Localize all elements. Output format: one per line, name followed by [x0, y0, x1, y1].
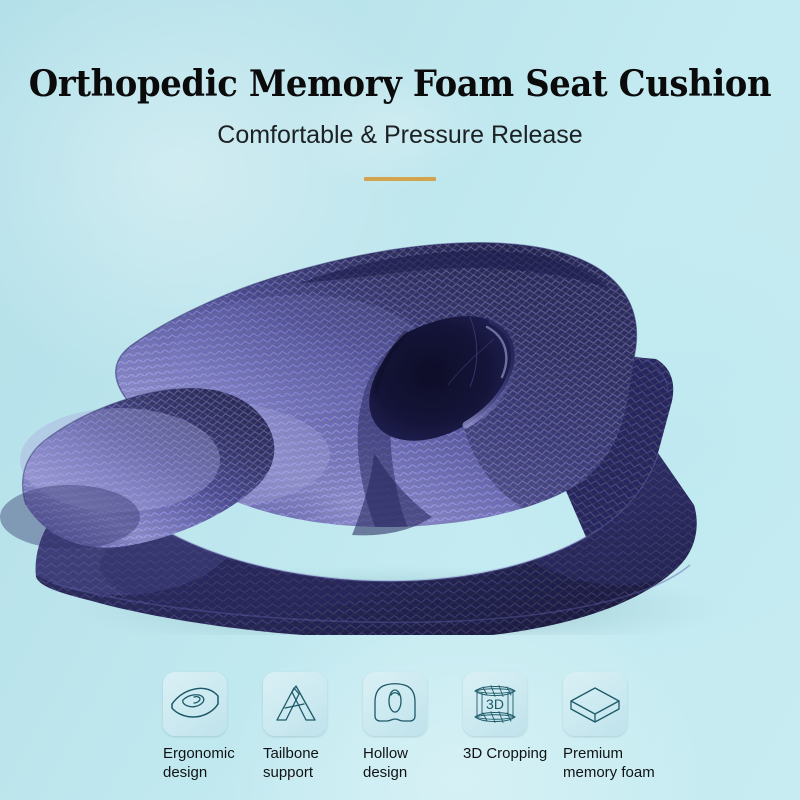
three-d-glyph-text: 3D [486, 696, 504, 712]
feature-premium-memory-foam[interactable]: Premium memory foam [563, 672, 663, 782]
header: Orthopedic Memory Foam Seat Cushion Comf… [0, 0, 800, 181]
feature-list: Ergonomic design Tailbone support [163, 672, 663, 792]
gold-divider [364, 177, 436, 181]
feature-label: Ergonomic design [163, 744, 263, 782]
feature-label: Hollow design [363, 744, 463, 782]
product-marketing-image: Orthopedic Memory Foam Seat Cushion Comf… [0, 0, 800, 800]
page-title: Orthopedic Memory Foam Seat Cushion [24, 0, 776, 102]
feature-label: 3D Cropping [463, 744, 563, 763]
feature-tailbone-support[interactable]: Tailbone support [263, 672, 363, 782]
feature-label: Tailbone support [263, 744, 363, 782]
cushion-left-wing [0, 388, 274, 549]
page-subtitle: Comfortable & Pressure Release [0, 102, 800, 148]
feature-ergonomic-design[interactable]: Ergonomic design [163, 672, 263, 782]
product-photo [0, 205, 800, 635]
hollow-cutout-cushion-icon [363, 672, 427, 736]
divider-wrapper [0, 148, 800, 181]
contoured-cushion-icon [163, 672, 227, 736]
foam-slab-icon [563, 672, 627, 736]
arch-support-icon [263, 672, 327, 736]
feature-label: Premium memory foam [563, 744, 663, 782]
feature-3d-cropping[interactable]: 3D 3D Cropping [463, 672, 563, 763]
feature-hollow-design[interactable]: Hollow design [363, 672, 463, 782]
three-d-mesh-icon: 3D [463, 672, 527, 736]
